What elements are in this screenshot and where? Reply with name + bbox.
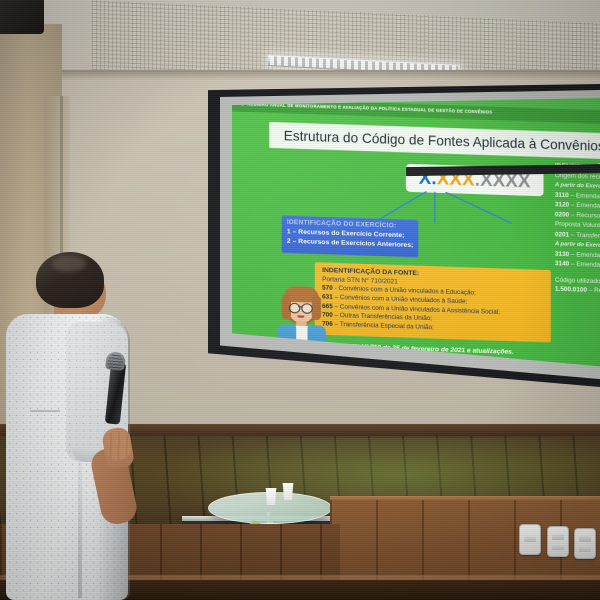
ceiling-speaker-icon xyxy=(0,0,44,34)
exercicio-box: IDENTIFICAÇÃO DO EXERCÍCIO: 1 – Recursos… xyxy=(282,216,419,258)
marcadores-column: IDENTIFICAÇÃO DOS M Origem dos recursos … xyxy=(555,163,600,296)
marcadores-item: 0201 – Transferência Es xyxy=(555,231,600,241)
marcadores-item-text: – Emenda de Com xyxy=(571,251,600,260)
wall-switch-plate[interactable] xyxy=(519,524,541,555)
slide-title-text: Estrutura do Código de Fontes Aplicada à… xyxy=(284,128,600,155)
marcadores-item: Proposta Voluntária, Pro xyxy=(555,221,600,231)
marcadores-item-code: 3120 xyxy=(555,201,569,209)
marcadores-item: 3120 – Emendas de Ban xyxy=(555,201,600,211)
marcadores-item-text: – Transferência Es xyxy=(571,231,600,240)
marcadores-item-code: 0200 xyxy=(555,211,569,219)
marcadores-item-code: 3110 xyxy=(555,191,569,199)
marcadores-item: 3130 – Emenda de Com xyxy=(555,250,600,260)
marcadores-group1-label: A partir do Exercício de 2023: xyxy=(555,182,600,191)
exercicio-item: 2 – Recursos de Exercícios Anteriores; xyxy=(287,238,413,249)
marcadores-note-code: 1.500.0100 xyxy=(555,286,587,294)
marcadores-item: 3110 – Emendas Individ xyxy=(555,191,600,201)
ceiling-shadow xyxy=(62,70,600,80)
marcadores-item-text: – Emendas de Ban xyxy=(571,202,600,211)
marcadores-item-text: – Emendas Individ xyxy=(571,192,600,201)
marcadores-item-text: Proposta Voluntária, Pro xyxy=(555,221,600,231)
marcadores-note-label: Código utilizado para Co xyxy=(555,276,600,286)
glasses-bridge-icon xyxy=(298,306,302,308)
slide-content: 1ª REUNIÃO ANUAL DE MONITORAMENTO E AVAL… xyxy=(232,98,600,370)
marcadores-item-code: 3130 xyxy=(555,250,569,258)
presenter-hair-highlight xyxy=(52,256,86,272)
wall-switch-plate[interactable] xyxy=(547,526,569,557)
glasses-icon xyxy=(301,303,312,314)
presenter xyxy=(0,252,160,600)
glasses-icon xyxy=(289,303,300,314)
slide-title-box: Estrutura do Código de Fontes Aplicada à… xyxy=(269,122,600,159)
photo-scene: 1ª REUNIÃO ANUAL DE MONITORAMENTO E AVAL… xyxy=(0,0,600,600)
marcadores-group2-label: A partir do Exercício de 2023: xyxy=(555,241,600,250)
avatar-hair-right xyxy=(312,295,321,320)
presenter-shirt-pocket xyxy=(30,410,60,412)
projected-slide: 1ª REUNIÃO ANUAL DE MONITORAMENTO E AVAL… xyxy=(232,98,600,370)
fonte-item-text: – Transferência Especial da União; xyxy=(335,321,434,332)
marcadores-item-text: – Recursos Extras xyxy=(571,211,600,220)
microphone-head-icon xyxy=(105,351,126,371)
marcadores-item-code: 0201 xyxy=(555,231,569,239)
marcadores-item: 0200 – Recursos Extras xyxy=(555,211,600,221)
fonte-box: INDENTIFICAÇÃO DA FONTE: Portaria STN N°… xyxy=(315,262,551,342)
projection-screen: 1ª REUNIÃO ANUAL DE MONITORAMENTO E AVAL… xyxy=(208,84,600,390)
marcadores-note-text: – Recursos l xyxy=(589,287,600,295)
marcadores-note: 1.500.0100 – Recursos l xyxy=(555,286,600,296)
marcadores-item-code: 3140 xyxy=(555,260,569,268)
wall-switch-plate[interactable] xyxy=(574,528,596,559)
